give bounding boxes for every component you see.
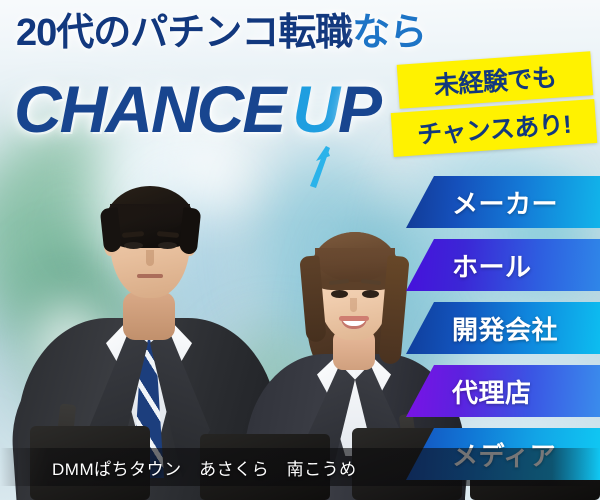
logo-letter-p: P [338,72,380,146]
category-item-hall[interactable]: ホール [406,239,600,291]
woman-nose [350,298,357,312]
headline: 20代のパチンコ転職なら [16,14,436,52]
badge-no-experience: 未経験でも チャンスあり! [392,52,600,160]
category-label: メーカー [452,184,558,221]
woman-eye-left [331,290,348,298]
man-neck [123,292,175,340]
man-eye-left [124,242,143,249]
man-eye-right [158,242,177,249]
man-hair-side-right [179,207,202,255]
woman-eye-right [362,290,379,298]
badge-line-2: チャンスあり! [391,99,598,157]
category-label: 開発会社 [452,310,558,347]
headline-main: 20代のパチンコ転職 [16,12,352,54]
logo-word-chance: CHANCE [14,72,284,146]
category-item-development-company[interactable]: 開発会社 [406,302,600,354]
logo-word-up: UP [292,72,380,146]
man-mouth [137,274,163,278]
credit-bar: DMMぱちタウン あさくら 南こうめ [0,448,600,486]
category-item-maker[interactable]: メーカー [406,176,600,228]
woman-upper-lip [339,316,369,321]
ad-banner[interactable]: 20代のパチンコ転職なら CHANCEUP 未経験でも チャンスあり! メーカー… [0,0,600,500]
logo-chance-up: CHANCEUP [14,70,434,148]
category-label: 代理店 [452,373,532,410]
credit-text: DMMぱちタウン あさくら 南こうめ [0,455,357,480]
category-list: メーカー ホール 開発会社 代理店 メディア [406,176,600,494]
man-nose [146,250,154,266]
headline-tail: なら [352,12,426,54]
category-label: ホール [452,247,532,284]
logo-letter-u: U [292,72,338,146]
category-item-agency[interactable]: 代理店 [406,365,600,417]
